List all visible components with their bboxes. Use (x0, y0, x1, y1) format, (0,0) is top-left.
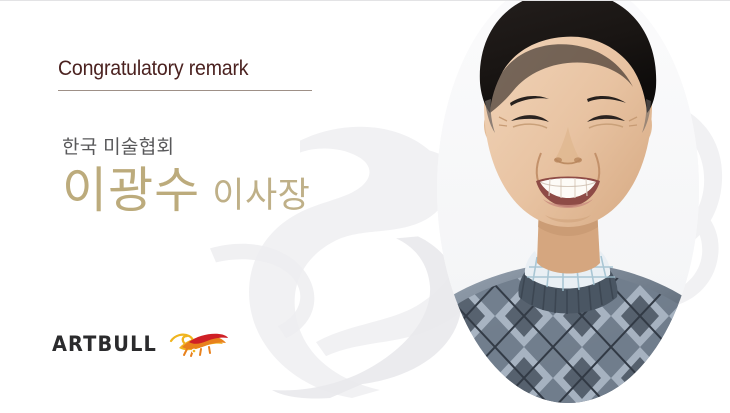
charging-bull-mark-icon (167, 327, 229, 361)
speaker-portrait (437, 0, 699, 403)
headline-block: Congratulatory remark (58, 57, 312, 91)
congratulatory-remark-slide: Congratulatory remark 한국 미술협회 이광수 이사장 AR… (0, 0, 730, 413)
headline-divider (58, 90, 312, 91)
person-name: 이광수 (62, 166, 200, 217)
speaker-block: 한국 미술협회 이광수 이사장 (62, 137, 310, 217)
portrait-illustration (437, 0, 699, 403)
artbull-wordmark: ARTBULL (52, 332, 157, 356)
artbull-logo: ARTBULL (52, 327, 229, 361)
organization-name: 한국 미술협회 (62, 137, 310, 160)
person-line: 이광수 이사장 (62, 166, 310, 217)
page-title: Congratulatory remark (58, 57, 294, 80)
person-title: 이사장 (212, 178, 310, 215)
